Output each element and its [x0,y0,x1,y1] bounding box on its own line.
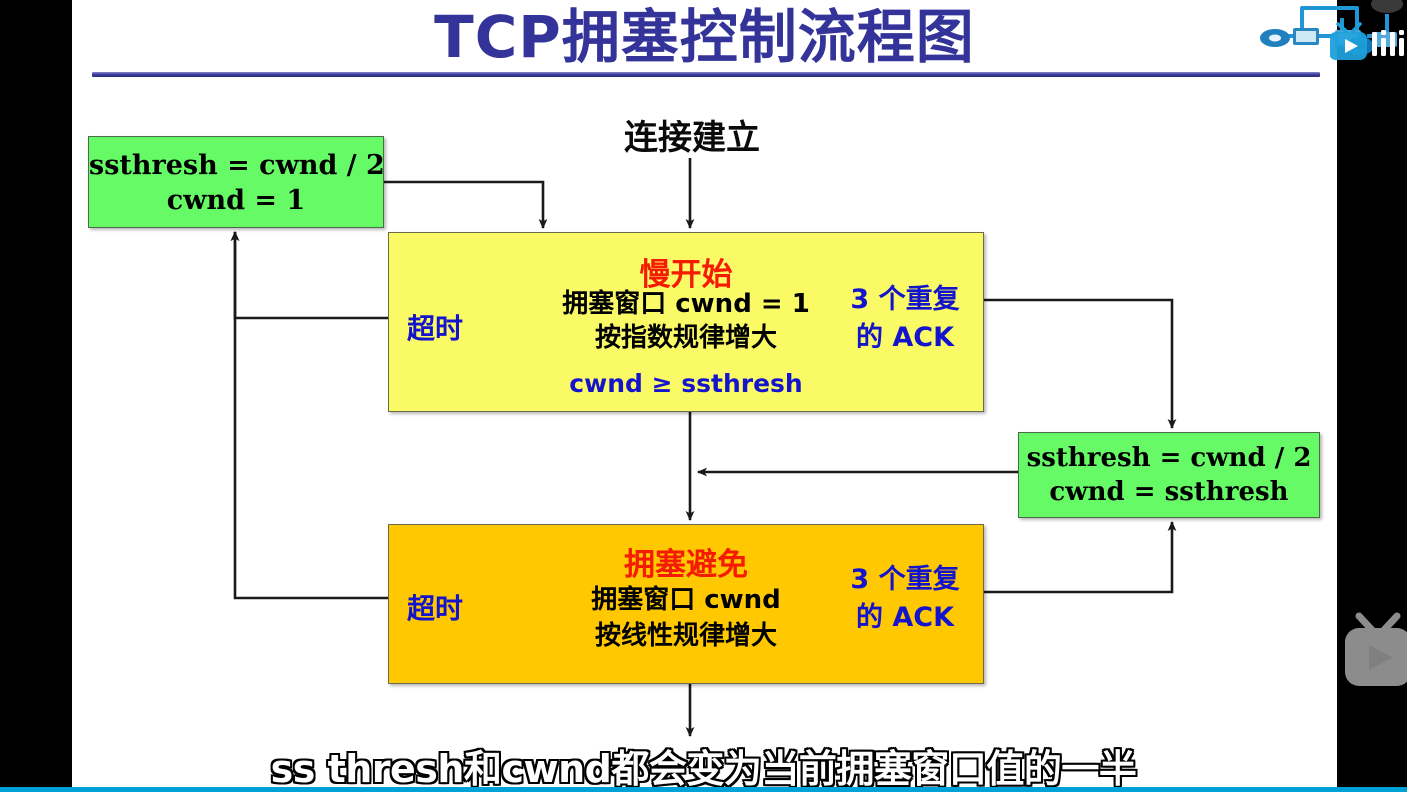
fast-recovery-box[interactable]: ssthresh = cwnd / 2 cwnd = ssthresh [1018,432,1320,518]
video-frame: TCP拥塞控制流程图 [0,0,1407,792]
bilibili-logo [1330,18,1407,64]
title-divider [92,72,1320,77]
wire-slowstart-dupack [984,300,1172,428]
slow-start-condition: cwnd ≥ ssthresh [389,369,983,398]
fast-recovery-line-2: cwnd = ssthresh [1019,475,1319,509]
video-progress-bar[interactable] [0,787,1407,792]
bilibili-tv-watermark-icon [1339,612,1407,698]
timeout-reset-line-1: ssthresh = cwnd / 2 [89,148,383,183]
wire-reset-to-slowstart [384,182,543,228]
slide-canvas: TCP拥塞控制流程图 [72,0,1337,792]
page-title: TCP拥塞控制流程图 [72,0,1337,74]
wire-avoidance-timeout [235,232,388,598]
timeout-reset-box[interactable]: ssthresh = cwnd / 2 cwnd = 1 [88,136,384,228]
timeout-reset-line-2: cwnd = 1 [89,183,383,218]
congestion-avoidance-box[interactable]: 拥塞避免 拥塞窗口 cwnd 按线性规律增大 超时 3 个重复 的 ACK [388,524,984,684]
fast-recovery-line-1: ssthresh = cwnd / 2 [1019,441,1319,475]
wire-avoidance-dupack [984,522,1172,592]
slow-start-timeout-label: 超时 [407,307,463,347]
congestion-avoidance-timeout-label: 超时 [407,587,463,627]
video-subtitle: ss thresh和cwnd都会变为当前拥塞窗口值的一半 [0,738,1407,792]
congestion-avoidance-dupack-label-2: 的 ACK [835,599,975,637]
wire-slowstart-timeout [235,232,388,318]
slow-start-dupack-label-2: 的 ACK [835,319,975,357]
slow-start-dupack-label-1: 3 个重复 [835,281,975,319]
slow-start-box[interactable]: 慢开始 拥塞窗口 cwnd = 1 按指数规律增大 cwnd ≥ ssthres… [388,232,984,412]
congestion-avoidance-dupack-label-1: 3 个重复 [835,561,975,599]
start-label: 连接建立 [572,110,812,159]
